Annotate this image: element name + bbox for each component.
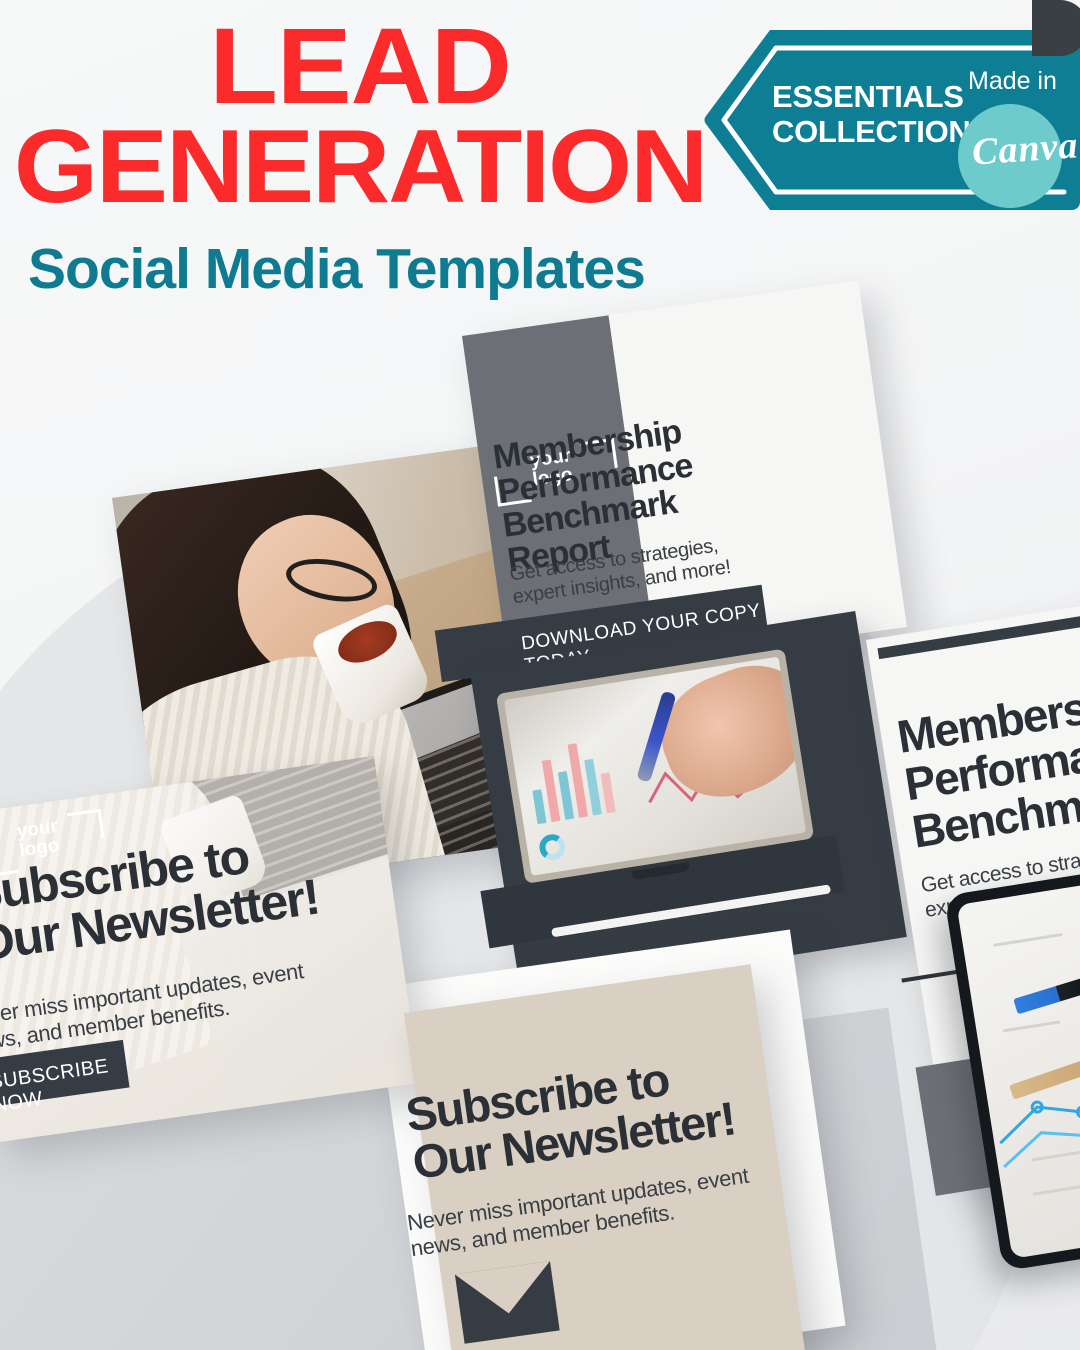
badge-line-2: COLLECTION — [772, 115, 971, 150]
mini-bar — [558, 771, 574, 820]
template-newsletter-photo[interactable]: your logo Subscribe to Our Newsletter! N… — [0, 756, 420, 1143]
mini-bar — [601, 772, 616, 813]
page-subtitle: Social Media Templates — [28, 236, 645, 302]
poster-stage: LEAD GENERATION Social Media Templates E… — [0, 0, 1080, 1350]
bracket-top-right-icon — [67, 809, 105, 843]
mini-bar — [584, 759, 602, 816]
title-line-1: LEAD — [0, 14, 734, 118]
canva-wordmark: Canva — [971, 123, 1080, 174]
envelope-icon — [455, 1261, 560, 1344]
badge-line-1: ESSENTIALS — [772, 80, 971, 115]
template-newsletter-beige[interactable]: Subscribe to Our Newsletter! Never miss … — [404, 964, 806, 1350]
template-laptop-mockup[interactable] — [470, 611, 907, 998]
mini-bar — [532, 789, 546, 824]
laptop-screen — [504, 657, 806, 876]
mini-donut-chart — [538, 832, 568, 862]
badge-label: ESSENTIALS COLLECTION — [772, 80, 971, 149]
tablet-line — [1003, 1020, 1061, 1032]
essentials-collection-badge: ESSENTIALS COLLECTION Made in Canva — [700, 22, 1080, 218]
report2-title: Membership Performance Benchmark Report — [894, 664, 1080, 856]
page-title: LEAD GENERATION — [0, 14, 720, 218]
tablet-line — [993, 933, 1063, 947]
mini-bar-chart — [524, 727, 615, 824]
report2-cta-label: DOWNLOAD YOUR COPY TODAY — [955, 1098, 960, 1129]
badge-corner-fold-icon — [1032, 0, 1080, 56]
tablet-photo-marker — [1013, 976, 1080, 1015]
badge-made-in-label: Made in — [968, 67, 1057, 96]
tablet-line-chart — [980, 1016, 1080, 1192]
title-line-2: GENERATION — [0, 118, 734, 218]
